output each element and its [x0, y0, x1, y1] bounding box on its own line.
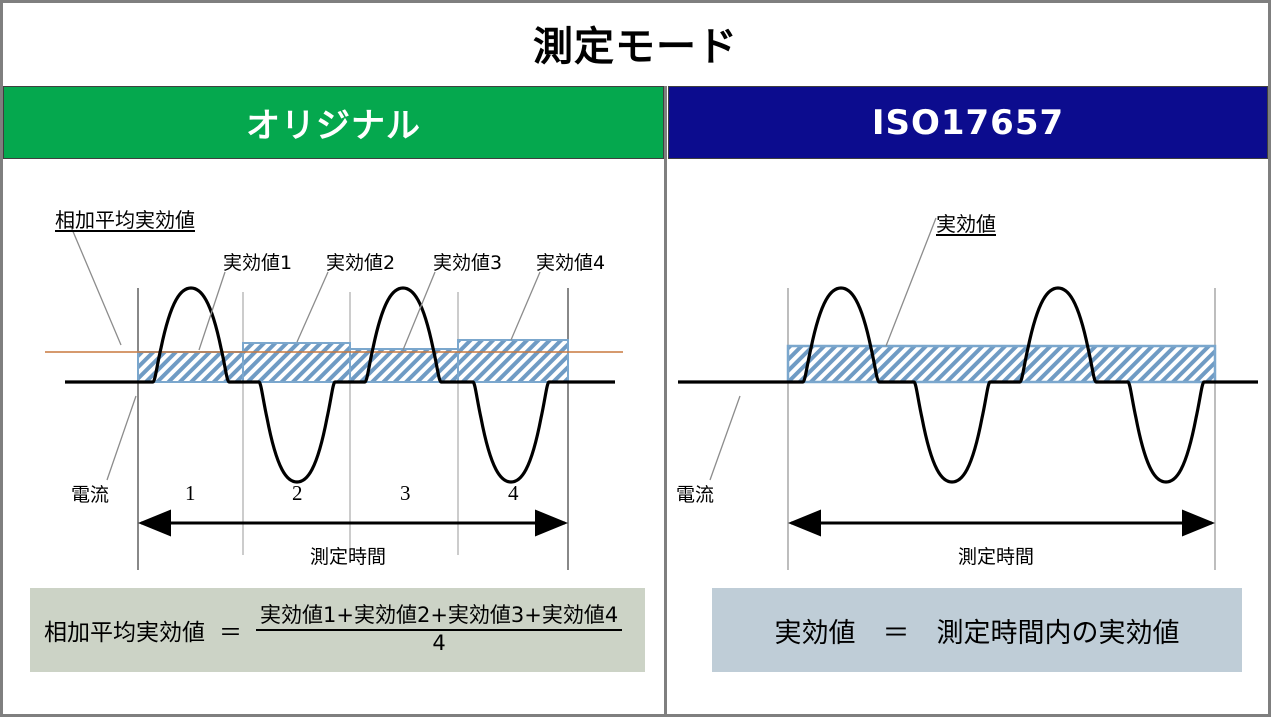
- rms-label-3: 実効値3: [433, 248, 502, 275]
- rms-label-1: 実効値1: [223, 248, 292, 275]
- rms-label-2: 実効値2: [326, 248, 395, 275]
- formula-iso-text: 実効値 ＝ 測定時間内の実効値: [775, 611, 1180, 650]
- measurement-window-bounds: [138, 288, 568, 570]
- measurement-window-bounds: [788, 288, 1215, 570]
- current-waveform: [65, 288, 615, 482]
- formula-box-original: 相加平均実効値 ＝ 実効値1+実効値2+実効値3+実効値4 4: [30, 588, 645, 672]
- formula-lhs: 相加平均実効値: [44, 613, 205, 647]
- column-header-original-label: オリジナル: [246, 98, 421, 147]
- segment-number-1: 1: [185, 481, 196, 506]
- page-title-bar: 測定モード: [3, 3, 1268, 83]
- formula-denominator: 4: [432, 631, 445, 656]
- measurement-duration-label: 測定時間: [310, 542, 386, 569]
- segment-number-2: 2: [292, 481, 303, 506]
- current-label: 電流: [71, 480, 109, 507]
- segment-number-3: 3: [400, 481, 411, 506]
- measurement-mode-diagram: 測定モード オリジナル ISO17657: [0, 0, 1271, 717]
- measurement-duration-label: 測定時間: [958, 542, 1034, 569]
- formula-box-iso: 実効値 ＝ 測定時間内の実効値: [712, 588, 1242, 672]
- formula-fraction: 実効値1+実効値2+実効値3+実効値4 4: [256, 604, 622, 655]
- segment-dividers: [243, 292, 458, 555]
- rms-band: [788, 346, 1215, 382]
- formula-equals: ＝: [219, 613, 242, 647]
- rms-label-4: 実効値4: [536, 248, 605, 275]
- formula-numerator: 実効値1+実効値2+実効値3+実効値4: [256, 604, 622, 631]
- column-header-iso-label: ISO17657: [872, 103, 1064, 143]
- panel-divider: [664, 86, 667, 714]
- rms-heading: 実効値: [936, 208, 996, 237]
- current-label: 電流: [676, 480, 714, 507]
- column-header-iso: ISO17657: [668, 86, 1268, 159]
- mean-rms-heading: 相加平均実効値: [55, 204, 195, 233]
- rms-bar-2: [243, 343, 350, 382]
- page-title: 測定モード: [533, 14, 738, 72]
- current-waveform: [678, 288, 1258, 482]
- segment-number-4: 4: [508, 481, 519, 506]
- column-header-original: オリジナル: [3, 86, 664, 159]
- rms-bar-4: [458, 340, 568, 382]
- rms-bars: [138, 340, 568, 382]
